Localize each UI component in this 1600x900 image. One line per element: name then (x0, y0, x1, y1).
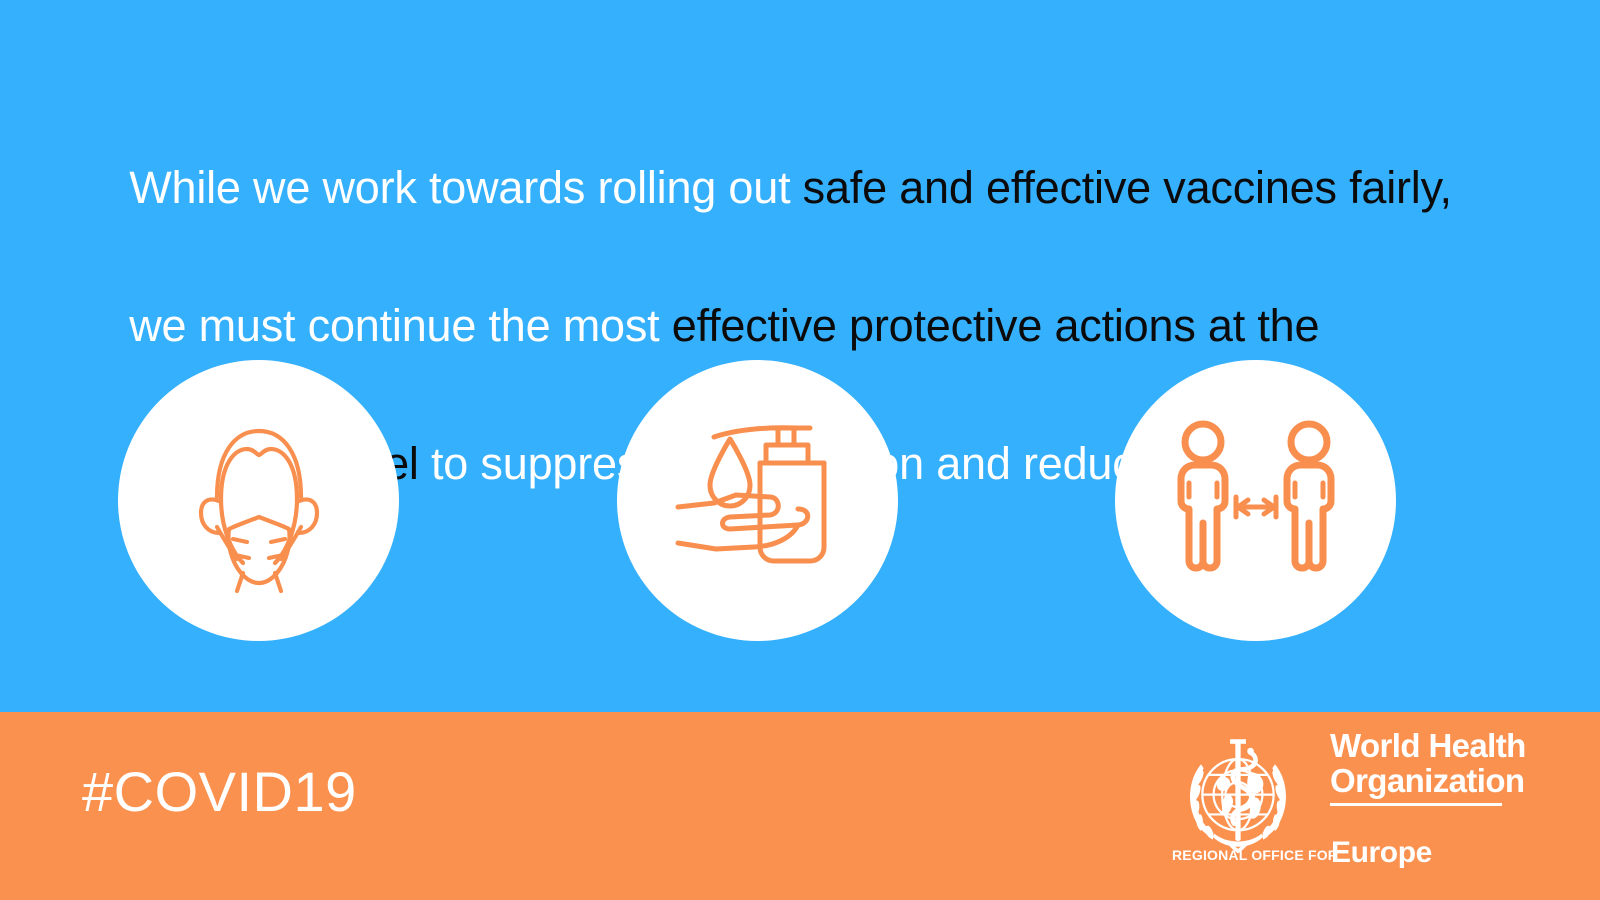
who-region-row: REGIONAL OFFICE FOR Europe (1172, 838, 1502, 868)
headline-segment-4: effective protective actions at the (672, 300, 1320, 351)
physical-distancing-icon (1156, 401, 1356, 601)
who-region-name: Europe (1331, 838, 1432, 868)
hashtag-covid19: #COVID19 (82, 760, 357, 824)
who-region-kicker: REGIONAL OFFICE FOR (1172, 847, 1324, 868)
covid19-infographic-poster: While we work towards rolling out safe a… (0, 0, 1600, 900)
headline-segment-1: safe and effective vaccines fairly, (803, 162, 1452, 213)
hand-sanitizer-icon (658, 401, 858, 601)
who-wordmark-divider (1330, 803, 1502, 806)
headline-segment-0: While we work towards rolling out (129, 162, 802, 213)
icon-badge-physical-distancing (1115, 360, 1396, 641)
who-wordmark: World Health Organization (1330, 728, 1502, 806)
who-logo-lockup: World Health Organization REGIONAL OFFIC… (1172, 726, 1502, 872)
protective-actions-icon-row (0, 360, 1600, 642)
headline-segment-3: we must continue the most (129, 300, 672, 351)
face-mask-icon (159, 401, 359, 601)
icon-badge-hand-sanitizer (617, 360, 898, 641)
who-wordmark-line-2: Organization (1330, 763, 1502, 798)
who-wordmark-line-1: World Health (1330, 728, 1502, 763)
icon-badge-face-mask (118, 360, 399, 641)
